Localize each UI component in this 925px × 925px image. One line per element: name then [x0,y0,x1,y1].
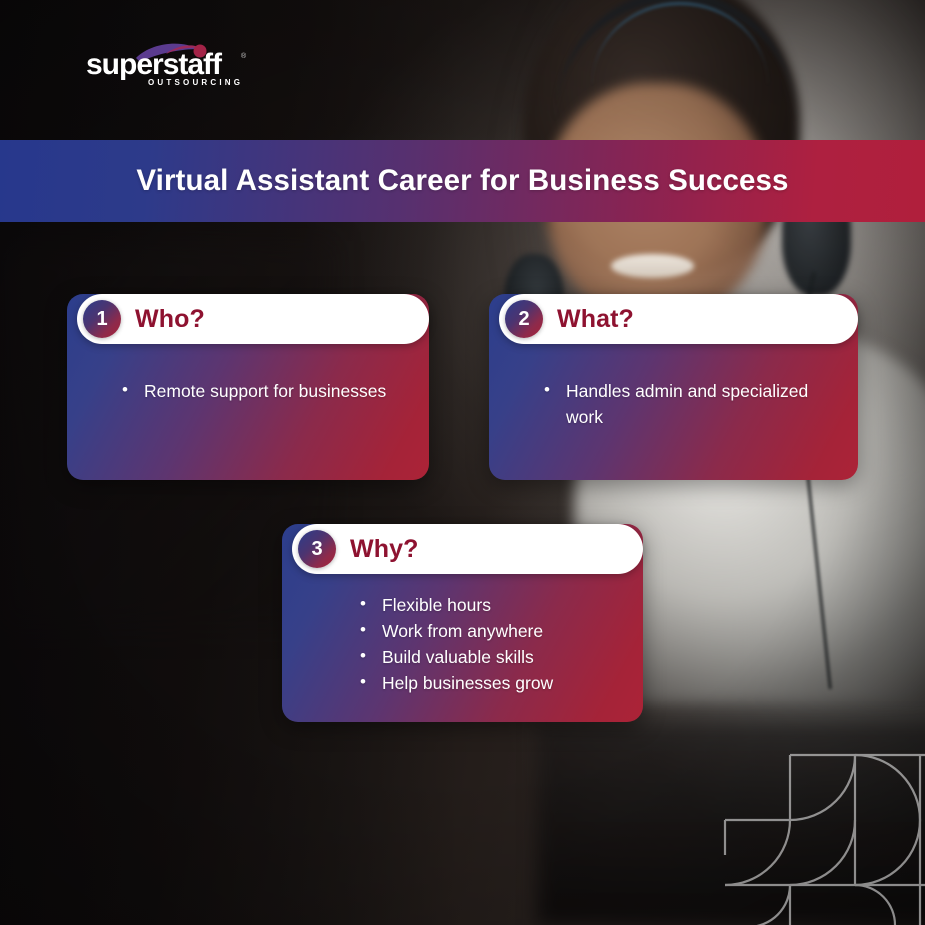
card-number-badge: 1 [83,300,121,338]
card-bullet-list: Handles admin and specialized work [489,344,858,480]
list-item: Flexible hours [360,592,617,618]
card-title: What? [557,305,634,334]
list-item: Work from anywhere [360,618,617,644]
list-item: Build valuable skills [360,644,617,670]
card-what: 2 What? Handles admin and specialized wo… [489,294,858,480]
card-bullet-list: Flexible hours Work from anywhere Build … [282,574,643,722]
list-item: Handles admin and specialized work [544,378,832,430]
page-title: Virtual Assistant Career for Business Su… [136,164,788,198]
logo-trademark: ® [241,52,247,60]
infographic-stage: superstaff OUTSOURCING ® Virtual Assista… [0,0,925,925]
logo-wordmark: superstaff [86,48,223,81]
list-item: Help businesses grow [360,670,617,696]
card-header: 1 Who? [77,294,429,344]
superstaff-logo: superstaff OUTSOURCING ® [78,40,258,86]
card-why: 3 Why? Flexible hours Work from anywhere… [282,524,643,722]
card-title: Why? [350,535,418,564]
card-number-badge: 3 [298,530,336,568]
card-bullet-list: Remote support for businesses [67,344,429,480]
title-banner: Virtual Assistant Career for Business Su… [0,140,925,222]
card-title: Who? [135,305,205,334]
logo-icon: superstaff OUTSOURCING ® [78,40,258,86]
list-item: Remote support for businesses [122,378,403,404]
card-number-badge: 2 [505,300,543,338]
arc-grid-pattern-icon [695,725,925,925]
card-header: 3 Why? [292,524,643,574]
card-header: 2 What? [499,294,858,344]
logo-tagline: OUTSOURCING [148,78,243,86]
card-who: 1 Who? Remote support for businesses [67,294,429,480]
